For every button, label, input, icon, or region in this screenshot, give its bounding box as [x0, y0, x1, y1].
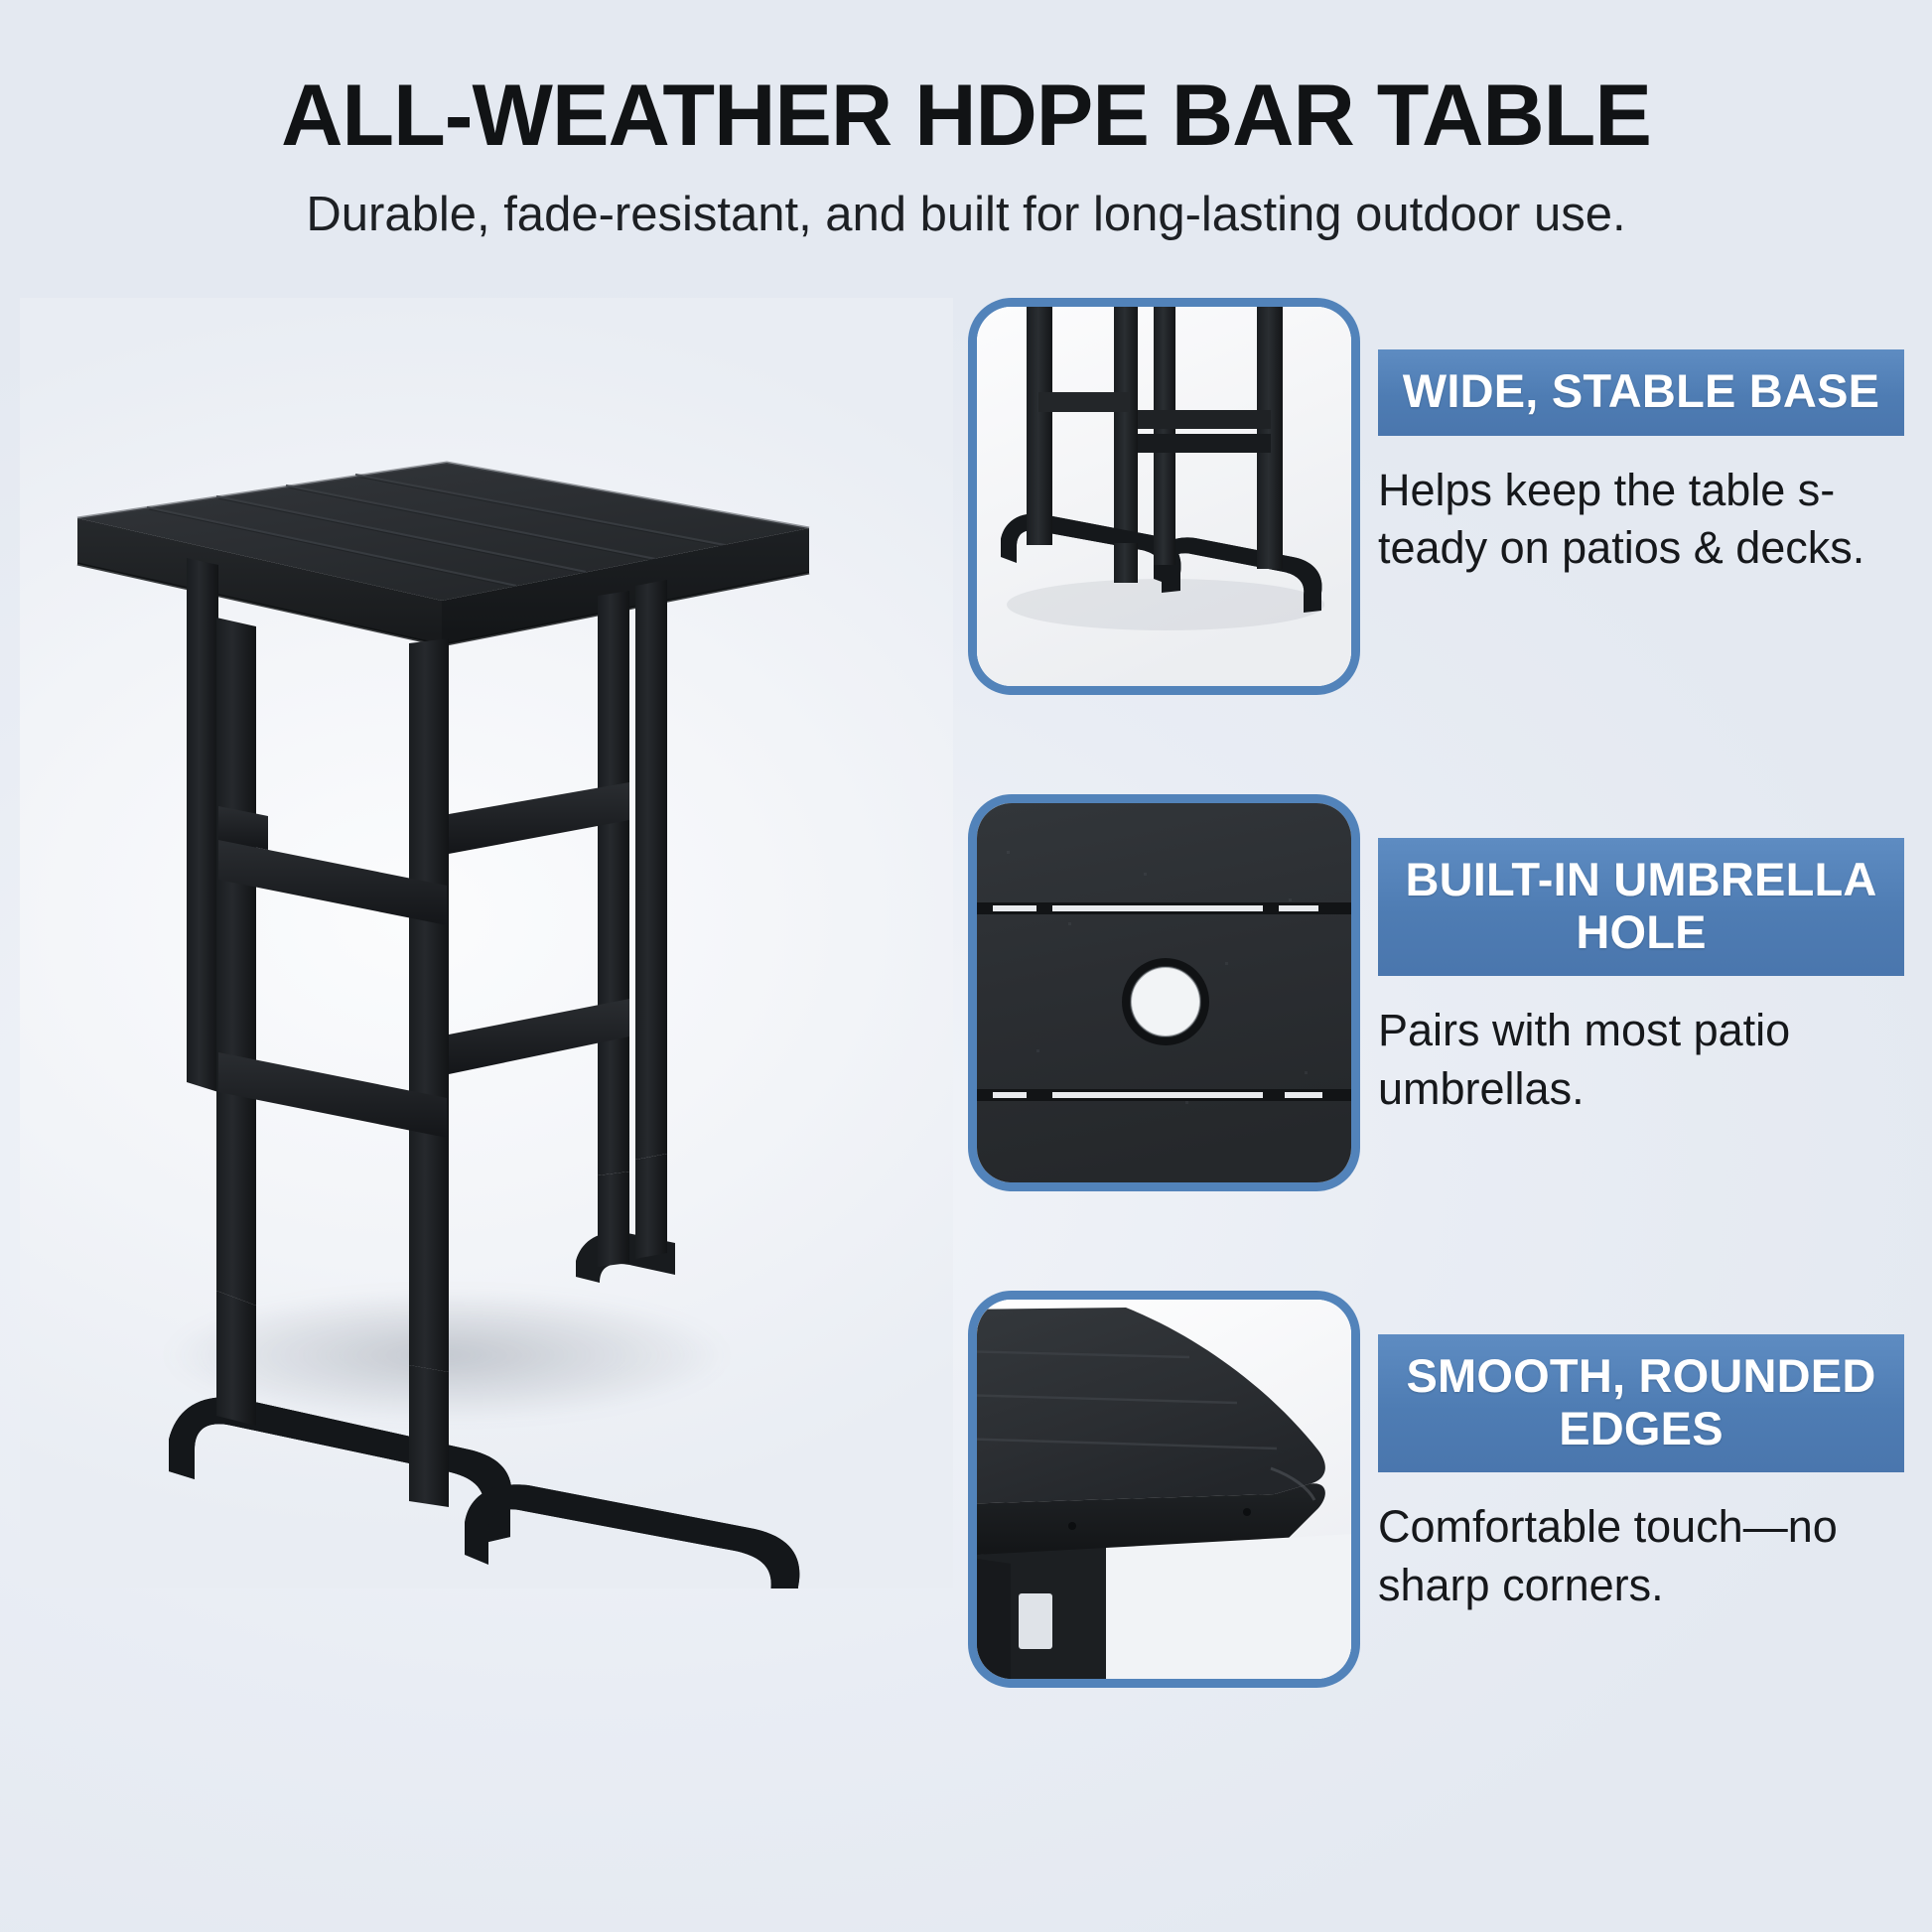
page-subtitle: Durable, fade-resistant, and built for l… [60, 189, 1872, 242]
feature-heading: WIDE, STABLE BASE [1378, 349, 1904, 436]
feature-heading: BUILT-IN UMBRELLA HOLE [1378, 838, 1904, 976]
feature-description: Pairs with most patio umbrellas. [1378, 1002, 1910, 1118]
feature-card-wide-stable-base: WIDE, STABLE BASE Helps keep the table s… [968, 298, 1916, 715]
base-legs-illustration [977, 307, 1354, 689]
rounded-corner-thumbnail [968, 1291, 1360, 1688]
feature-text-block: WIDE, STABLE BASE Helps keep the table s… [1360, 298, 1916, 695]
feature-card-umbrella-hole: BUILT-IN UMBRELLA HOLE Pairs with most p… [968, 794, 1916, 1211]
umbrella-hole-illustration [977, 803, 1354, 1185]
feature-text-block: SMOOTH, ROUNDED EDGES Comfortable touch—… [1360, 1291, 1916, 1688]
rounded-corner-illustration [977, 1300, 1354, 1682]
feature-card-rounded-edges: SMOOTH, ROUNDED EDGES Comfortable touch—… [968, 1291, 1916, 1708]
feature-description: Helps keep the table s-teady on patios &… [1378, 462, 1910, 578]
feature-callouts: WIDE, STABLE BASE Helps keep the table s… [968, 298, 1916, 1847]
product-hero-image [20, 298, 953, 1588]
feature-heading: SMOOTH, ROUNDED EDGES [1378, 1334, 1904, 1472]
page-title: ALL-WEATHER HDPE BAR TABLE [77, 71, 1854, 159]
bar-table-illustration [20, 298, 953, 1588]
feature-text-block: BUILT-IN UMBRELLA HOLE Pairs with most p… [1360, 794, 1916, 1191]
feature-description: Comfortable touch—no sharp corners. [1378, 1498, 1910, 1614]
umbrella-hole-thumbnail [968, 794, 1360, 1191]
table-base-legs-thumbnail [968, 298, 1360, 695]
header: ALL-WEATHER HDPE BAR TABLE Durable, fade… [0, 0, 1932, 242]
